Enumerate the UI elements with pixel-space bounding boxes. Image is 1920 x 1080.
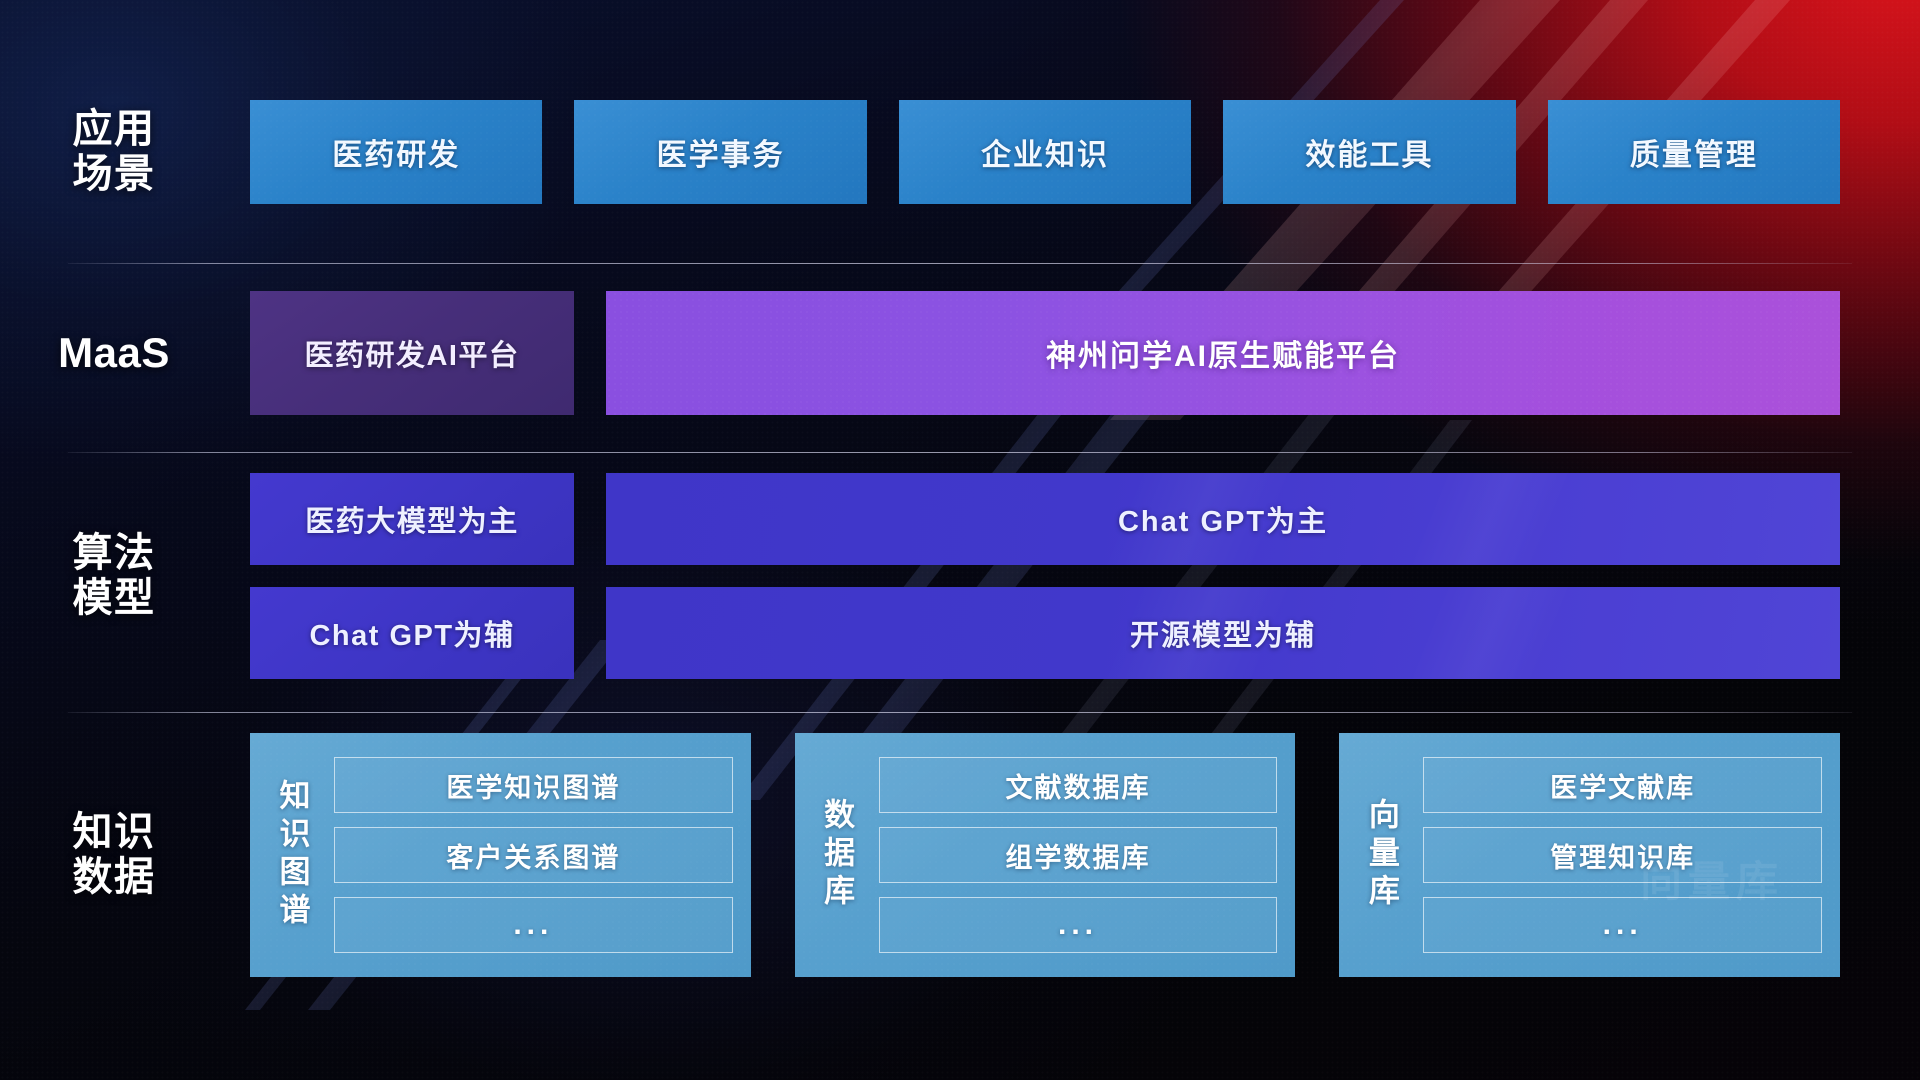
knowledge-item-label: 客户关系图谱 xyxy=(446,836,620,875)
knowledge-item-more[interactable]: ... xyxy=(334,897,733,953)
knowledge-item-label: 文献数据库 xyxy=(1006,766,1151,805)
maas-card-shenzhou-wenxue-platform[interactable]: 神州问学AI原生赋能平台 xyxy=(606,291,1840,415)
algorithm-primary-line: 医药大模型为主 Chat GPT为主 xyxy=(250,473,1840,565)
row-content-knowledge-data: 知识图谱 医学知识图谱 客户关系图谱 ... 数据库 文献数据库 组学数据库 .… xyxy=(190,733,1920,977)
algo-card-label: 开源模型为辅 xyxy=(1130,612,1316,654)
row-content-maas: 医药研发AI平台 神州问学AI原生赋能平台 xyxy=(190,291,1920,415)
knowledge-item-list: 医学知识图谱 客户关系图谱 ... xyxy=(334,757,733,953)
knowledge-group-label: 知识图谱 xyxy=(264,779,320,931)
maas-card-label: 神州问学AI原生赋能平台 xyxy=(1046,331,1400,375)
knowledge-item-customer-relation-graph[interactable]: 客户关系图谱 xyxy=(334,827,733,883)
knowledge-group-database[interactable]: 数据库 文献数据库 组学数据库 ... xyxy=(795,733,1296,977)
algorithm-secondary-line: Chat GPT为辅 开源模型为辅 xyxy=(250,587,1840,679)
knowledge-item-label: ... xyxy=(513,908,553,942)
app-card-label: 医学事务 xyxy=(657,130,785,174)
row-label-text: MaaS xyxy=(38,329,190,376)
row-label-line-1: 算法 xyxy=(38,531,190,576)
app-card-pharma-rd[interactable]: 医药研发 xyxy=(250,100,542,204)
maas-card-label: 医药研发AI平台 xyxy=(304,332,519,374)
algo-card-opensource-secondary[interactable]: 开源模型为辅 xyxy=(606,587,1840,679)
knowledge-item-label: 管理知识库 xyxy=(1550,836,1695,875)
row-label-application-scenarios: 应用 场景 xyxy=(0,107,190,197)
row-label-algorithm-models: 算法 模型 xyxy=(0,531,190,621)
knowledge-item-label: 医学文献库 xyxy=(1550,766,1695,805)
knowledge-item-management-knowledge-store[interactable]: 管理知识库 xyxy=(1423,827,1822,883)
algo-card-label: Chat GPT为辅 xyxy=(309,612,514,654)
row-label-line-1: 知识 xyxy=(38,810,190,855)
knowledge-group-vector-store[interactable]: 向量库 向量库 医学文献库 管理知识库 ... xyxy=(1339,733,1840,977)
app-card-quality-management[interactable]: 质量管理 xyxy=(1548,100,1840,204)
knowledge-item-list: 医学文献库 管理知识库 ... xyxy=(1423,757,1822,953)
app-card-label: 企业知识 xyxy=(981,130,1109,174)
divider-1 xyxy=(68,263,1852,264)
knowledge-item-more[interactable]: ... xyxy=(879,897,1278,953)
app-card-efficiency-tools[interactable]: 效能工具 xyxy=(1223,100,1515,204)
app-card-label: 医药研发 xyxy=(332,130,460,174)
knowledge-item-omics-database[interactable]: 组学数据库 xyxy=(879,827,1278,883)
row-label-line-1: 应用 xyxy=(38,107,190,152)
divider-3 xyxy=(68,712,1852,713)
row-maas: MaaS 医药研发AI平台 神州问学AI原生赋能平台 xyxy=(0,291,1920,415)
maas-platform-list: 医药研发AI平台 神州问学AI原生赋能平台 xyxy=(190,291,1920,415)
knowledge-item-more[interactable]: ... xyxy=(1423,897,1822,953)
row-label-line-2: 场景 xyxy=(38,152,190,197)
algorithm-model-list: 医药大模型为主 Chat GPT为主 Chat GPT为辅 开源模型为辅 xyxy=(190,473,1920,679)
knowledge-item-label: 组学数据库 xyxy=(1006,836,1151,875)
row-knowledge-data: 知识 数据 知识图谱 医学知识图谱 客户关系图谱 ... 数据库 xyxy=(0,733,1920,977)
row-label-knowledge-data: 知识 数据 xyxy=(0,810,190,900)
app-card-label: 效能工具 xyxy=(1305,130,1433,174)
knowledge-item-literature-database[interactable]: 文献数据库 xyxy=(879,757,1278,813)
maas-card-pharma-ai-platform[interactable]: 医药研发AI平台 xyxy=(250,291,574,415)
knowledge-group-label: 数据库 xyxy=(809,798,865,912)
application-card-list: 医药研发 医学事务 企业知识 效能工具 质量管理 xyxy=(190,100,1920,204)
knowledge-item-label: ... xyxy=(1603,908,1643,942)
diagram-canvas: 应用 场景 医药研发 医学事务 企业知识 效能工具 质量管理 MaaS xyxy=(0,0,1920,1080)
algo-card-chatgpt-primary[interactable]: Chat GPT为主 xyxy=(606,473,1840,565)
knowledge-group-knowledge-graph[interactable]: 知识图谱 医学知识图谱 客户关系图谱 ... xyxy=(250,733,751,977)
algo-card-label: Chat GPT为主 xyxy=(1118,498,1328,540)
row-algorithm-models: 算法 模型 医药大模型为主 Chat GPT为主 Chat GPT为辅 开源模型… xyxy=(0,473,1920,679)
row-content-application-scenarios: 医药研发 医学事务 企业知识 效能工具 质量管理 xyxy=(190,100,1920,204)
row-label-maas: MaaS xyxy=(0,329,190,376)
divider-2 xyxy=(68,452,1852,453)
knowledge-item-label: 医学知识图谱 xyxy=(446,766,620,805)
knowledge-group-list: 知识图谱 医学知识图谱 客户关系图谱 ... 数据库 文献数据库 组学数据库 .… xyxy=(190,733,1920,977)
algo-card-pharma-llm-primary[interactable]: 医药大模型为主 xyxy=(250,473,574,565)
knowledge-item-medical-literature-store[interactable]: 医学文献库 xyxy=(1423,757,1822,813)
app-card-label: 质量管理 xyxy=(1630,130,1758,174)
knowledge-item-list: 文献数据库 组学数据库 ... xyxy=(879,757,1278,953)
app-card-enterprise-knowledge[interactable]: 企业知识 xyxy=(899,100,1191,204)
algo-card-chatgpt-secondary[interactable]: Chat GPT为辅 xyxy=(250,587,574,679)
row-content-algorithm-models: 医药大模型为主 Chat GPT为主 Chat GPT为辅 开源模型为辅 xyxy=(190,473,1920,679)
diagram-rows: 应用 场景 医药研发 医学事务 企业知识 效能工具 质量管理 MaaS xyxy=(0,0,1920,1080)
knowledge-item-label: ... xyxy=(1058,908,1098,942)
knowledge-item-medical-knowledge-graph[interactable]: 医学知识图谱 xyxy=(334,757,733,813)
row-application-scenarios: 应用 场景 医药研发 医学事务 企业知识 效能工具 质量管理 xyxy=(0,100,1920,204)
row-label-line-2: 数据 xyxy=(38,855,190,900)
algo-card-label: 医药大模型为主 xyxy=(305,498,519,540)
knowledge-group-label: 向量库 xyxy=(1353,798,1409,912)
row-label-line-2: 模型 xyxy=(38,576,190,621)
app-card-medical-affairs[interactable]: 医学事务 xyxy=(574,100,866,204)
